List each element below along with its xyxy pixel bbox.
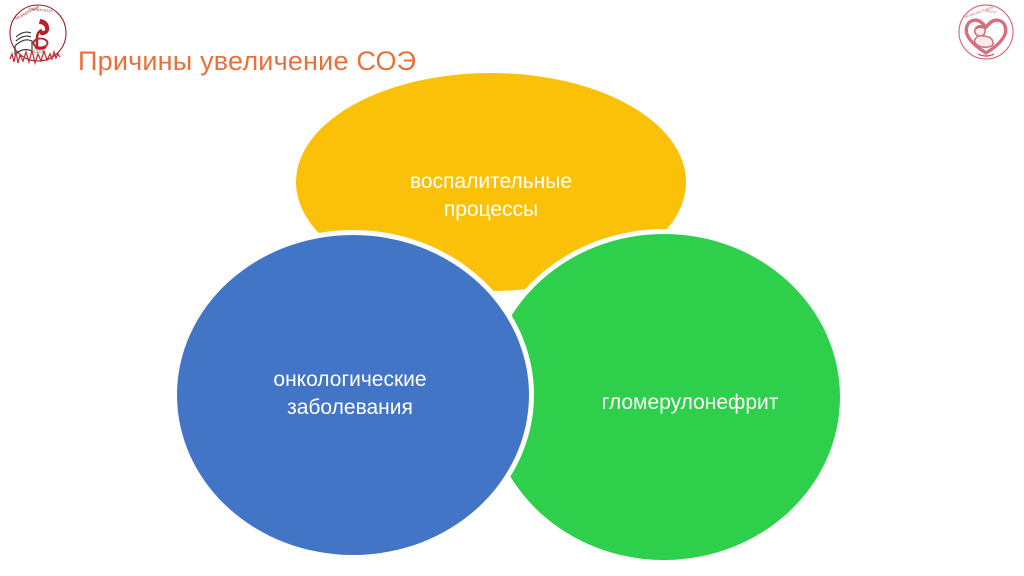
venn-circle-glomerulonephritis-label: гломерулонефрит <box>592 389 789 417</box>
venn-diagram: воспалительные процессы гломерулонефрит … <box>0 0 1024 576</box>
venn-circle-glomerulonephritis[interactable]: гломерулонефрит <box>488 234 840 560</box>
slide-canvas: МЕДИЦИНСКИЙ УНИВЕРСИТЕТ 1920 <box>0 0 1024 576</box>
venn-circle-oncology[interactable]: онкологические заболевания <box>177 235 529 555</box>
venn-circle-inflammation-label: воспалительные процессы <box>400 168 582 224</box>
venn-circle-oncology-label: онкологические заболевания <box>263 366 436 422</box>
